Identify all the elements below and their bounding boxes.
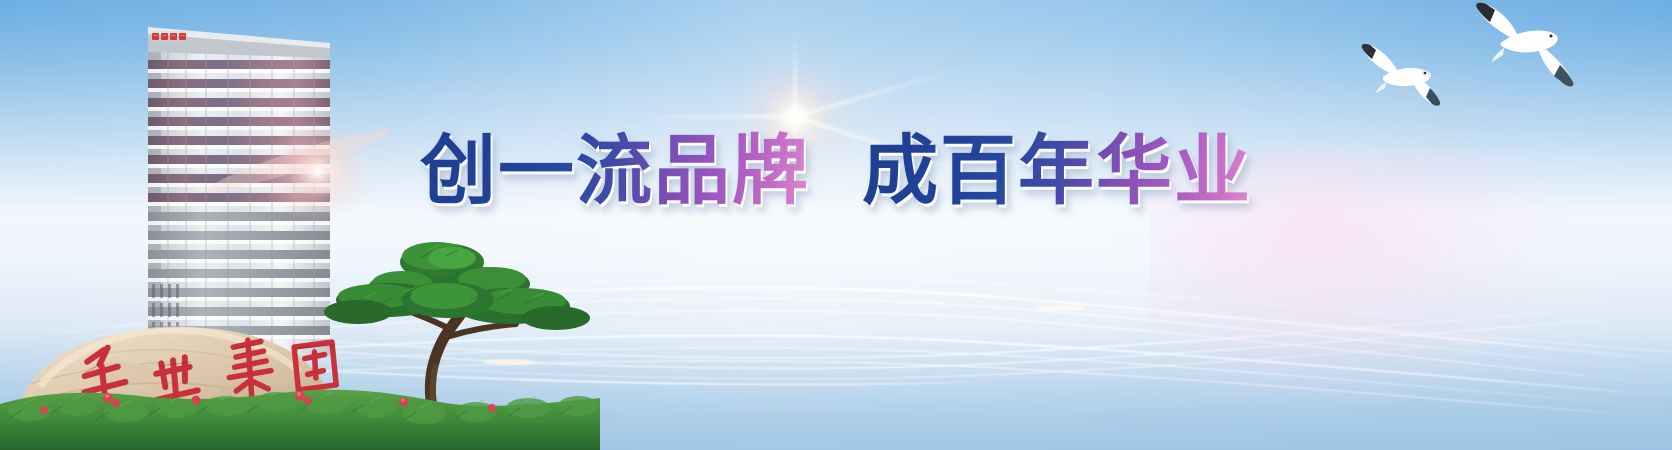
seagull-icon-right [1476, 3, 1573, 87]
water-band [0, 330, 1672, 450]
slogan-text: 创一流品牌成百年华业 [0, 131, 1672, 211]
sun-ray [795, 65, 969, 117]
pine-foliage [324, 242, 590, 330]
sun-ray [794, 27, 797, 117]
hedge-row [0, 390, 600, 450]
sky-haze-overlay [0, 0, 1672, 450]
seagull-icon-left [1361, 44, 1440, 106]
seagull-group [1352, 0, 1672, 140]
stone-monument [14, 327, 336, 430]
slogan-line-2: 成百年华业 [862, 126, 1252, 215]
slogan-line-1: 创一流品牌 [420, 126, 810, 215]
sun-ray [625, 115, 795, 118]
hedge-flowers [40, 391, 496, 414]
monument-engraving [80, 339, 336, 403]
wave-ribbons [0, 220, 1672, 450]
rooftop-sign [150, 31, 188, 42]
hero-banner: 创一流品牌成百年华业 [0, 0, 1672, 450]
ornamental-pine-tree [324, 242, 590, 430]
left-scene [0, 0, 600, 450]
